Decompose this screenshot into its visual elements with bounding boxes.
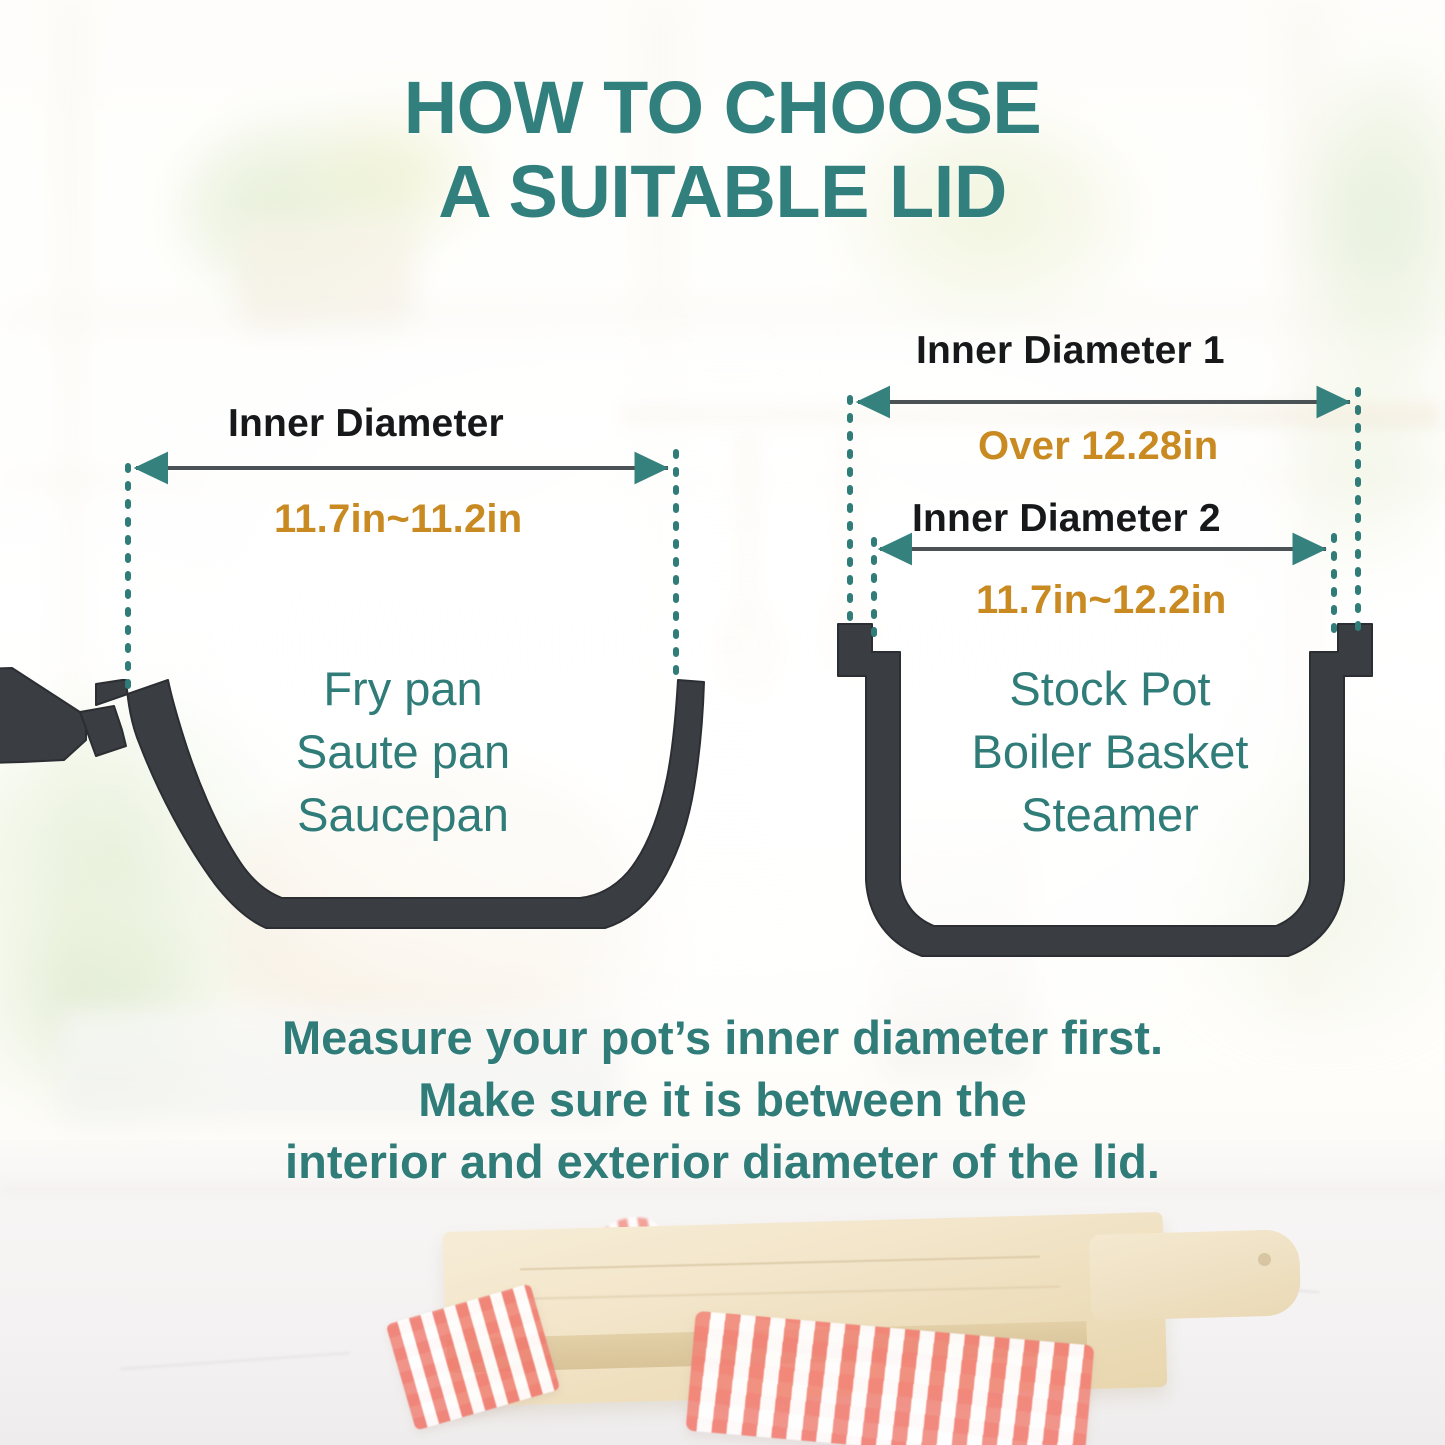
- right-pot-names: Stock Pot Boiler Basket Steamer: [930, 658, 1290, 847]
- footer-line-3: interior and exterior diameter of the li…: [0, 1131, 1445, 1193]
- left-pot-name-1: Fry pan: [228, 658, 578, 721]
- right-inner-diameter1-value: Over 12.28in: [978, 424, 1218, 469]
- right-pot-name-1: Stock Pot: [930, 658, 1290, 721]
- footer-line-1: Measure your pot’s inner diameter first.: [0, 1007, 1445, 1069]
- left-pot-name-3: Saucepan: [228, 784, 578, 847]
- left-inner-diameter-value: 11.7in~11.2in: [274, 497, 522, 542]
- right-inner-diameter2-label: Inner Diameter 2: [912, 497, 1221, 541]
- right-pot-name-2: Boiler Basket: [930, 721, 1290, 784]
- right-inner-diameter1-label: Inner Diameter 1: [916, 329, 1225, 373]
- right-inner-diameter2-value: 11.7in~12.2in: [976, 578, 1227, 623]
- left-inner-diameter-label: Inner Diameter: [228, 402, 504, 446]
- left-pot-name-2: Saute pan: [228, 721, 578, 784]
- left-pot-names: Fry pan Saute pan Saucepan: [228, 658, 578, 847]
- footer-instructions: Measure your pot’s inner diameter first.…: [0, 1007, 1445, 1193]
- right-pot-name-3: Steamer: [930, 784, 1290, 847]
- footer-line-2: Make sure it is between the: [0, 1069, 1445, 1131]
